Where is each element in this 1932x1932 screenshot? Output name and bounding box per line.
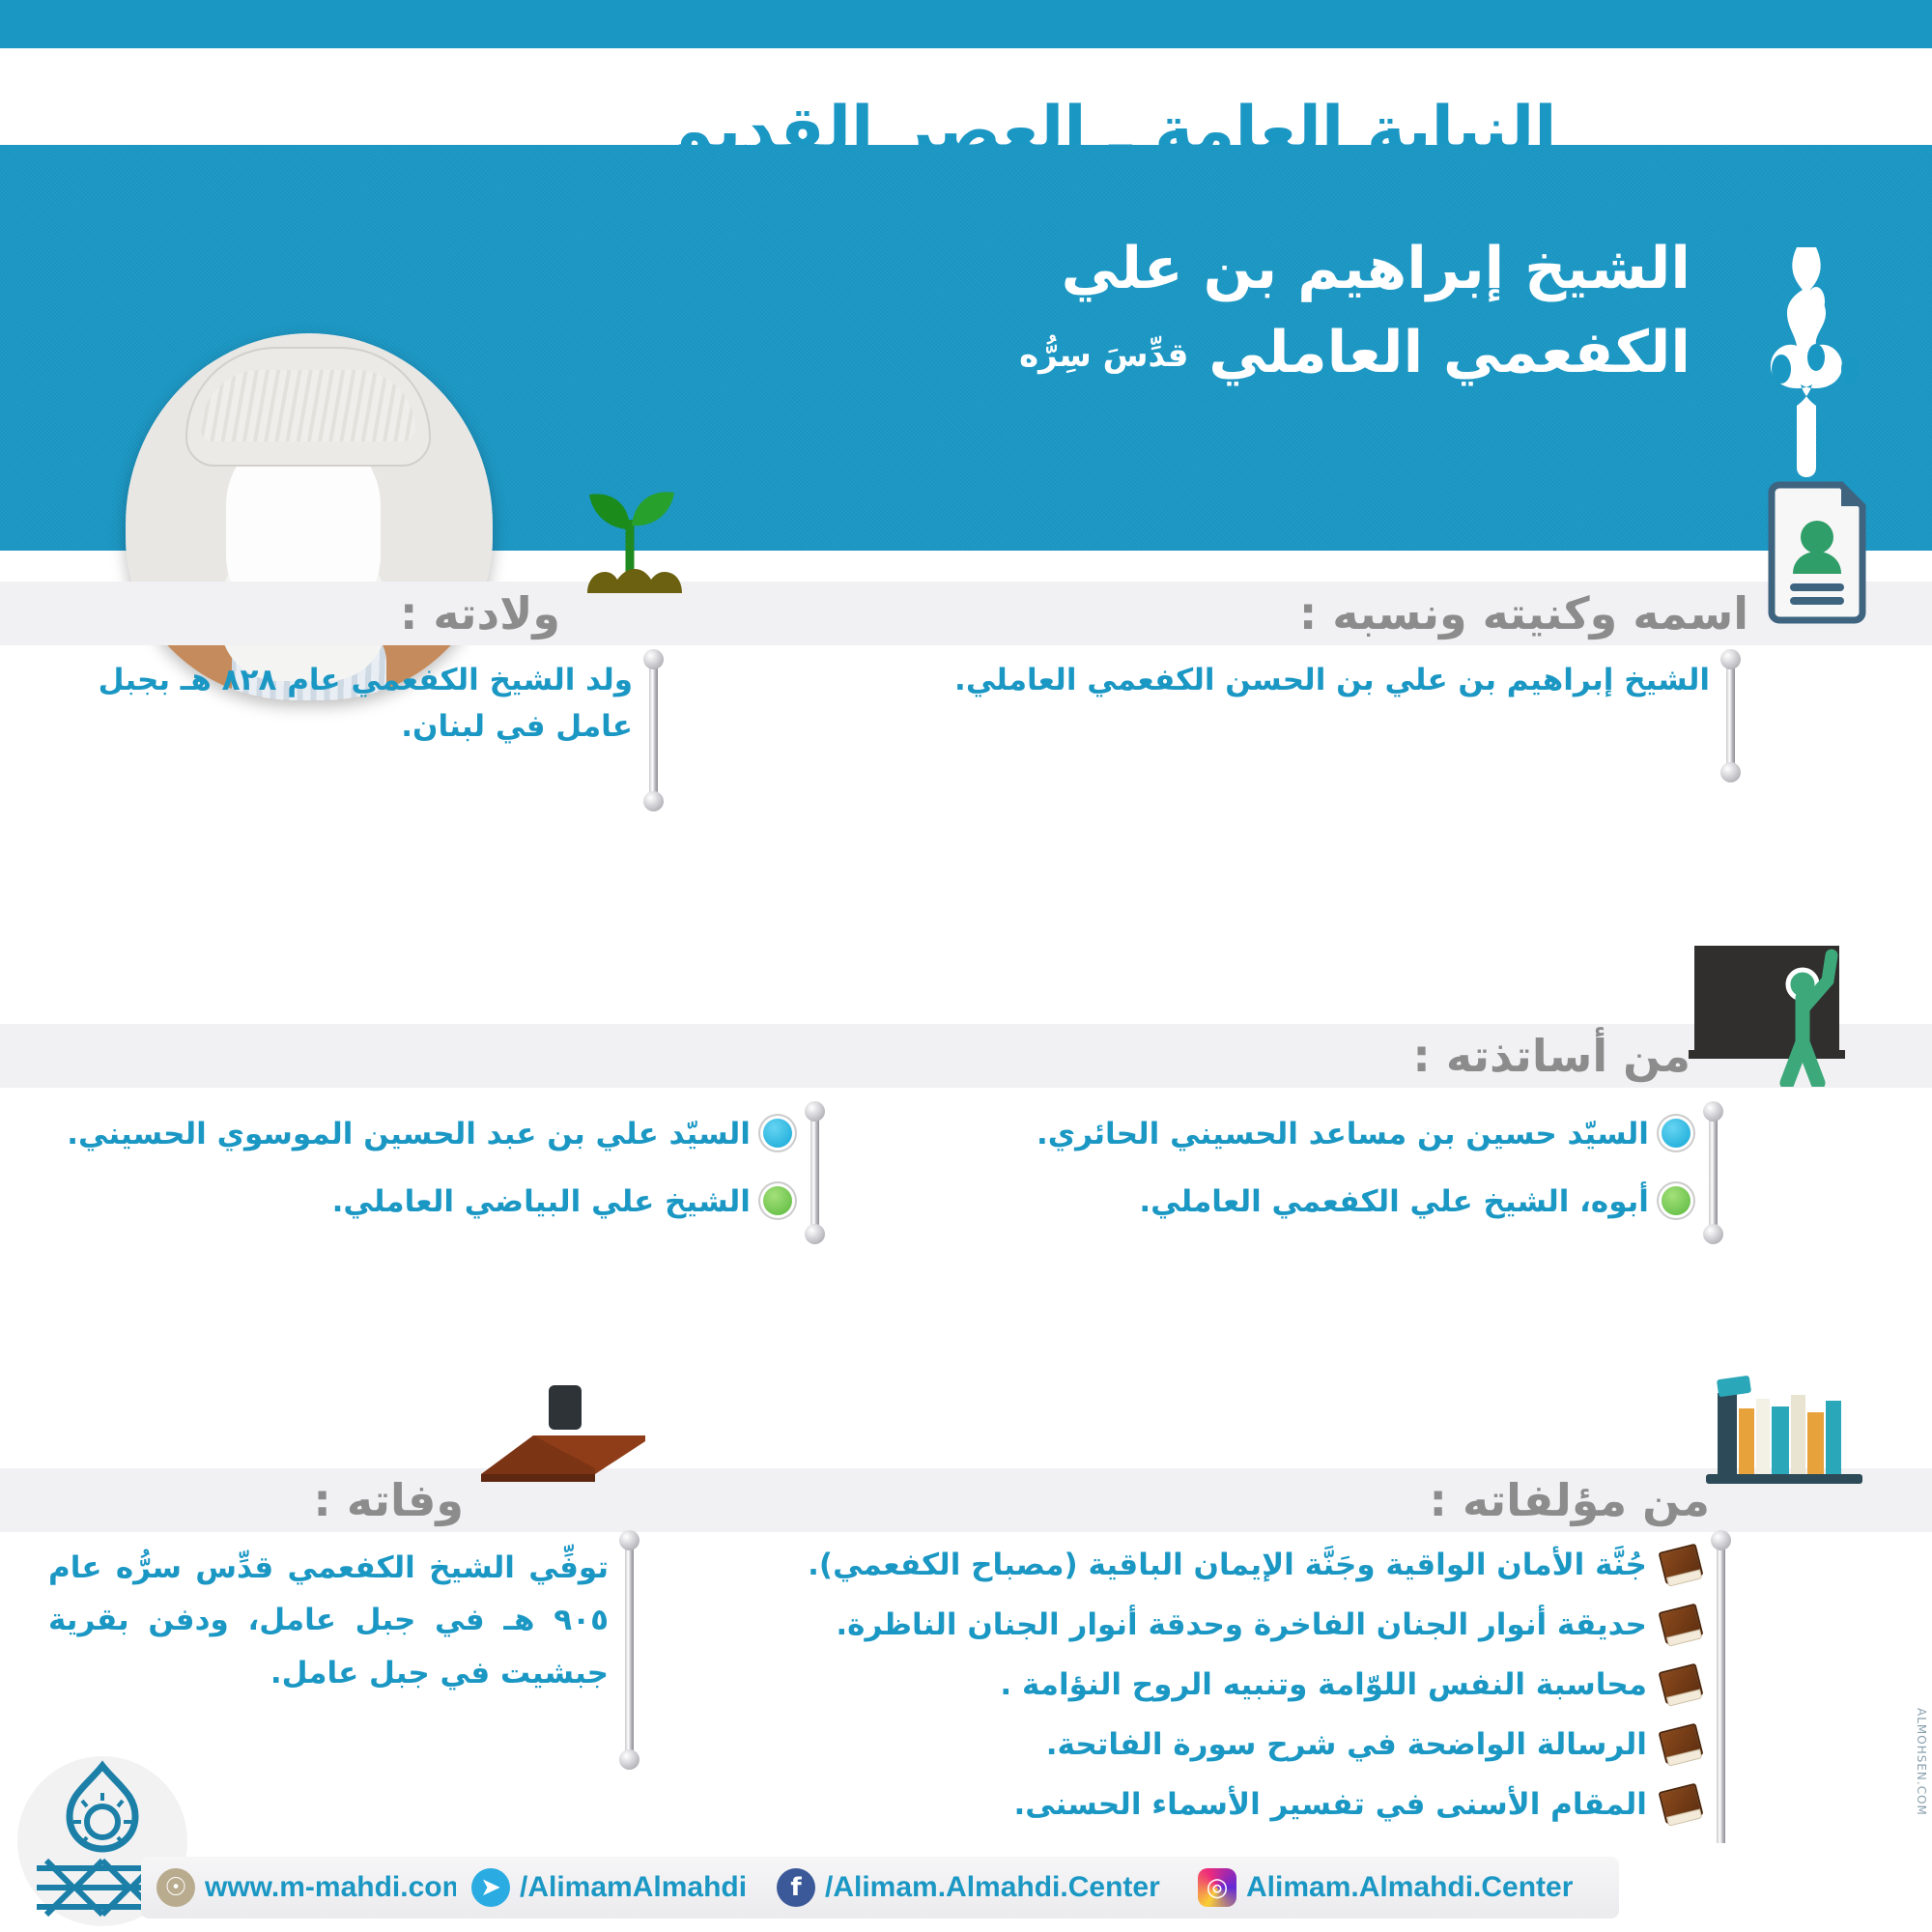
teachers-right-list: السيّد حسين بن مساعد الحسيني الحائري. أب… (869, 1111, 1690, 1246)
list-item: السيّد حسين بن مساعد الحسيني الحائري. (869, 1111, 1690, 1157)
footer-link-label: Alimam.Almahdi.Center (1246, 1871, 1573, 1904)
death-body: توفِّي الشيخ الكفعمي قدِّس سرُّه عام ٩٠٥… (48, 1542, 609, 1699)
hero-band: الشيخ إبراهيم بن علي الكفعمي العاملي قدِ… (0, 145, 1932, 551)
book-icon (1658, 1604, 1703, 1645)
sprout-icon (560, 469, 705, 605)
section-heading-name-lineage: اسمه وكنيته ونسبه : (1299, 582, 1748, 645)
bullet-cyan-icon (763, 1119, 792, 1148)
portrait-avatar (126, 333, 493, 700)
instagram-icon: ◎ (1198, 1868, 1236, 1907)
infographic-page: النيابة العامة ـ العصر القديم الشيخ إبرا… (0, 0, 1932, 1932)
list-item: الرسالة الواضحة في شرح سورة الفاتحة. (618, 1721, 1700, 1768)
subject-name-line2: الكفعمي العاملي قدِّسَ سِرُّه (821, 311, 1690, 395)
rod-decoration (1709, 1115, 1718, 1231)
side-watermark: ALMOHSEN.COM (1915, 1708, 1928, 1816)
footer-link-website[interactable]: ☉ www.m-mahdi.com (141, 1857, 471, 1918)
subject-name-line1: الشيخ إبراهيم بن علي (821, 227, 1690, 311)
rod-decoration (625, 1544, 634, 1756)
top-accent-bar (0, 0, 1932, 48)
rod-decoration (1717, 1544, 1725, 1862)
work-title: جُنَّة الأمان الواقية وجَنَّة الإيمان ال… (808, 1548, 1647, 1582)
teacher-name: السيّد حسين بن مساعد الحسيني الحائري. (1037, 1117, 1649, 1151)
list-item: السيّد علي بن عبد الحسين الموسوي الحسيني… (29, 1111, 792, 1157)
telegram-icon: ➤ (471, 1868, 510, 1907)
portrait-turban (185, 347, 431, 467)
grave-icon (464, 1381, 657, 1488)
death-body-wrap: توفِّي الشيخ الكفعمي قدِّس سرُّه عام ٩٠٥… (48, 1542, 609, 1699)
works-list: جُنَّة الأمان الواقية وجَنَّة الإيمان ال… (618, 1542, 1700, 1828)
footer: ☉ www.m-mahdi.com ➤ /AlimamAlmahdi f /Al… (0, 1843, 1932, 1932)
id-card-icon (1758, 479, 1874, 624)
teacher-name: السيّد علي بن عبد الحسين الموسوي الحسيني… (67, 1117, 751, 1151)
footer-link-facebook[interactable]: f /Alimam.Almahdi.Center (761, 1857, 1198, 1918)
bullet-green-icon (1662, 1186, 1690, 1215)
footer-link-label: www.m-mahdi.com (205, 1871, 468, 1904)
bookshelf-icon (1700, 1374, 1874, 1490)
teacher-name: أبوه، الشيخ علي الكفعمي العاملي. (1139, 1184, 1649, 1219)
rod-decoration (649, 663, 658, 798)
section-heading-works: من مؤلفاته : (1430, 1468, 1710, 1532)
rod-decoration (810, 1115, 819, 1231)
work-title: المقام الأسنى في تفسير الأسماء الحسنى. (1014, 1787, 1647, 1822)
footer-link-telegram[interactable]: ➤ /AlimamAlmahdi (456, 1857, 777, 1918)
bullet-green-icon (763, 1186, 792, 1215)
section-heading-death: وفاته : (313, 1468, 464, 1532)
list-item: حديقة أنوار الجنان الفاخرة وحدقة أنوار ا… (618, 1602, 1700, 1648)
birth-body: ولد الشيخ الكفعمي عام ٨٢٨ هـ بجبل عامل ف… (92, 657, 633, 750)
section-heading-birth: ولادته : (400, 582, 560, 645)
teacher-name: الشيخ علي البياضي العاملي. (332, 1184, 751, 1219)
subject-name-line2-text: الكفعمي العاملي (1208, 319, 1690, 386)
teachers-left-list: السيّد علي بن عبد الحسين الموسوي الحسيني… (29, 1111, 792, 1246)
arabesque-ornament-icon (1729, 241, 1903, 493)
list-item: أبوه، الشيخ علي الكفعمي العاملي. (869, 1179, 1690, 1225)
work-title: الرسالة الواضحة في شرح سورة الفاتحة. (1046, 1727, 1647, 1762)
section-heading-teachers: من أساتذته : (1412, 1024, 1690, 1088)
work-title: حديقة أنوار الجنان الفاخرة وحدقة أنوار ا… (836, 1607, 1647, 1642)
bullet-cyan-icon (1662, 1119, 1690, 1148)
title-zone: النيابة العامة ـ العصر القديم (0, 48, 1932, 145)
footer-link-instagram[interactable]: ◎ Alimam.Almahdi.Center (1182, 1857, 1619, 1918)
globe-icon: ☉ (156, 1868, 195, 1907)
teacher-blackboard-icon (1681, 942, 1874, 1087)
rod-decoration (1726, 663, 1735, 769)
list-item: الشيخ علي البياضي العاملي. (29, 1179, 792, 1225)
honorific: قدِّسَ سِرُّه (1019, 336, 1188, 375)
book-icon (1658, 1663, 1703, 1705)
name-lineage-body: الشيخ إبراهيم بن علي بن الحسن الكفعمي ال… (647, 657, 1710, 703)
list-item: المقام الأسنى في تفسير الأسماء الحسنى. (618, 1781, 1700, 1828)
name-lineage-body-wrap: الشيخ إبراهيم بن علي بن الحسن الكفعمي ال… (647, 657, 1710, 703)
book-icon (1658, 1544, 1703, 1585)
book-icon (1658, 1783, 1703, 1825)
birth-body-wrap: ولد الشيخ الكفعمي عام ٨٢٨ هـ بجبل عامل ف… (92, 657, 633, 750)
work-title: محاسبة النفس اللوّامة وتنبيه الروح النؤا… (1000, 1667, 1646, 1702)
list-item: جُنَّة الأمان الواقية وجَنَّة الإيمان ال… (618, 1542, 1700, 1588)
subject-name: الشيخ إبراهيم بن علي الكفعمي العاملي قدِ… (821, 227, 1690, 395)
footer-link-label: /Alimam.Almahdi.Center (825, 1871, 1160, 1904)
book-icon (1658, 1723, 1703, 1765)
footer-link-label: /AlimamAlmahdi (520, 1871, 747, 1904)
facebook-icon: f (777, 1868, 815, 1907)
list-item: محاسبة النفس اللوّامة وتنبيه الروح النؤا… (618, 1662, 1700, 1708)
